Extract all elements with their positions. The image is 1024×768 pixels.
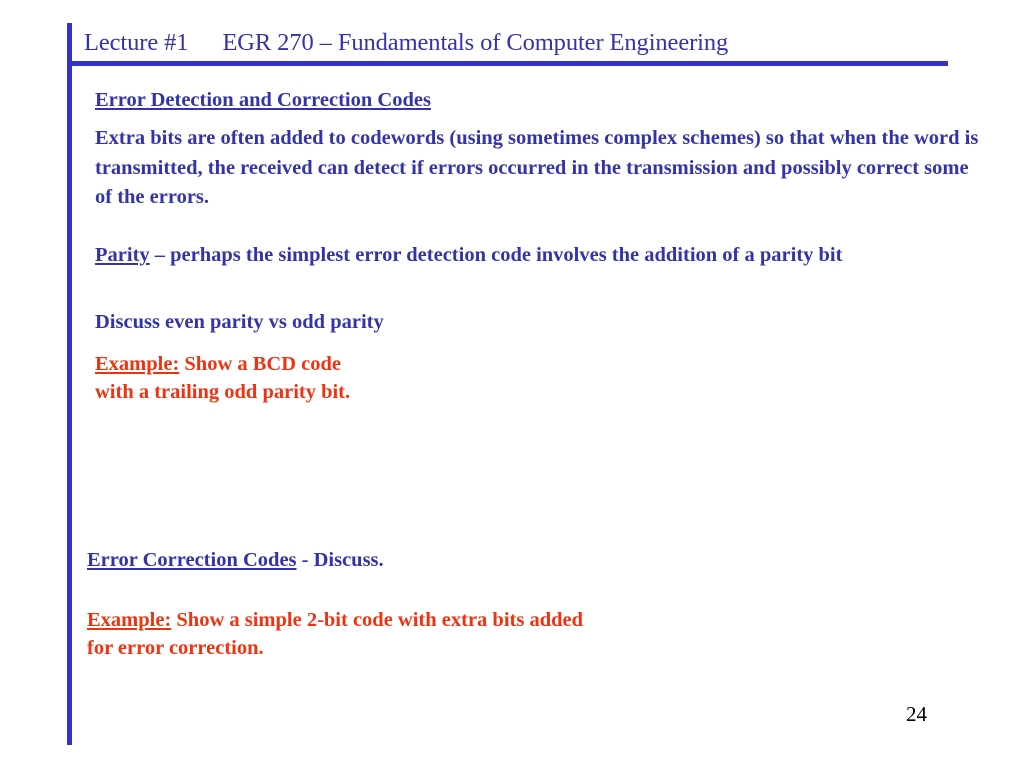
paragraph-extra-bits: Extra bits are often added to codewords … (95, 124, 988, 213)
example-1-line-2: with a trailing odd parity bit. (95, 381, 350, 403)
header-course-title: EGR 270 – Fundamentals of Computer Engin… (222, 29, 728, 56)
example-bcd-parity-block: Example: Show a BCD codewith a trailing … (95, 350, 695, 406)
section-heading-error-correction-rest: - Discuss. (297, 549, 384, 571)
slide-header: Lecture #1EGR 270 – Fundamentals of Comp… (84, 28, 964, 58)
example-1-line-1: Show a BCD code (179, 353, 341, 375)
example-2-line-1: Show a simple 2-bit code with extra bits… (171, 609, 583, 631)
header-lecture-label: Lecture #1 (84, 29, 188, 56)
left-accent-rule (67, 23, 72, 745)
parity-definition-block: Parity – perhaps the simplest error dete… (95, 240, 955, 270)
discuss-parity-line: Discuss even parity vs odd parity (95, 308, 695, 337)
slide-canvas: Lecture #1EGR 270 – Fundamentals of Comp… (0, 0, 1024, 768)
section-heading-error-correction: Error Correction Codes - Discuss. (87, 546, 687, 575)
example-1-label: Example: (95, 353, 179, 375)
parity-term: Parity (95, 244, 150, 266)
page-number: 24 (906, 702, 927, 726)
example-2-label: Example: (87, 609, 171, 631)
section-heading-error-detection-text: Error Detection and Correction Codes (95, 89, 431, 111)
section-heading-error-detection: Error Detection and Correction Codes (95, 86, 695, 115)
example-error-correction-block: Example: Show a simple 2-bit code with e… (87, 606, 847, 662)
parity-definition-text: – perhaps the simplest error detection c… (150, 244, 843, 266)
header-underline-rule (67, 61, 948, 66)
example-2-line-2: for error correction. (87, 637, 264, 659)
section-heading-error-correction-term: Error Correction Codes (87, 549, 297, 571)
